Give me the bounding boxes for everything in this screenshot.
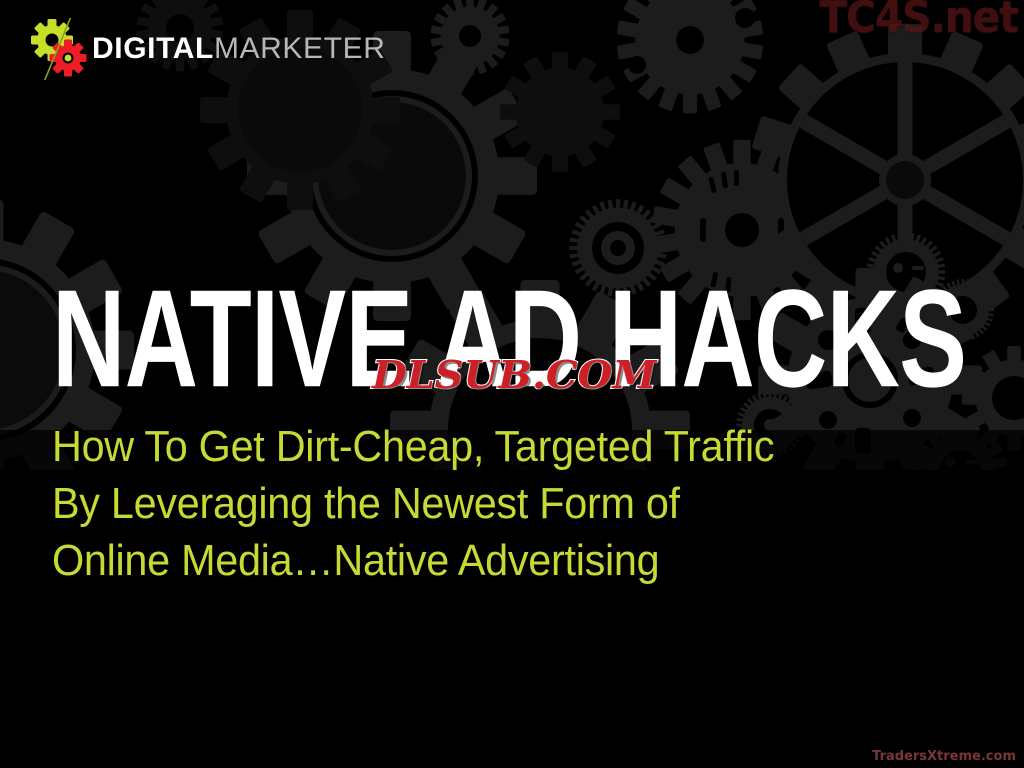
brand-name-thin: MARKETER	[214, 32, 386, 65]
slide-subhead: How To Get Dirt-Cheap, Targeted Traffic …	[52, 418, 823, 590]
presentation-slide: TC4S.net	[0, 0, 1024, 768]
brand-wordmark: DIGITALMARKETER	[92, 34, 385, 64]
subhead-line-1: How To Get Dirt-Cheap, Targeted Traffic	[52, 418, 823, 475]
subhead-line-2: By Leveraging the Newest Form of	[52, 475, 823, 532]
watermark-bottom-right: TradersXtreme.com	[872, 749, 1016, 764]
watermark-center: DLSUB.COM	[372, 356, 657, 394]
subhead-line-3: Online Media…Native Advertising	[52, 532, 823, 589]
digitalmarketer-gears-icon	[28, 18, 90, 80]
brand-logo: DIGITALMARKETER	[28, 18, 385, 80]
brand-name-bold: DIGITAL	[92, 32, 214, 65]
watermark-top-right: TC4S.net	[820, 0, 1018, 40]
